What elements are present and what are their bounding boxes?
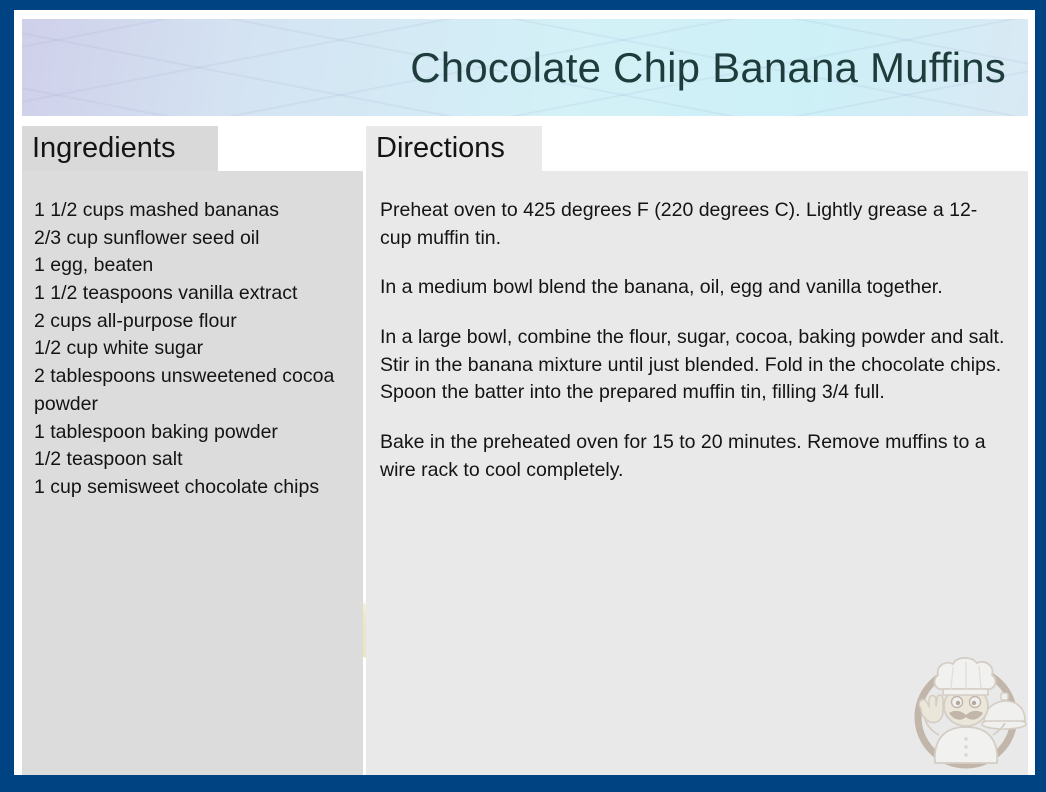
directions-heading: Directions bbox=[366, 126, 542, 171]
list-item: 2/3 cup sunflower seed oil bbox=[34, 225, 349, 253]
title-banner: Chocolate Chip Banana Muffins bbox=[22, 19, 1028, 116]
list-item: Preheat oven to 425 degrees F (220 degre… bbox=[380, 197, 1008, 252]
list-item: 1/2 cup white sugar bbox=[34, 335, 349, 363]
ingredients-section: Ingredients 1 1/2 cups mashed bananas 2/… bbox=[22, 126, 363, 775]
ingredients-heading: Ingredients bbox=[22, 126, 218, 171]
list-item: In a medium bowl blend the banana, oil, … bbox=[380, 274, 1008, 302]
page-title: Chocolate Chip Banana Muffins bbox=[410, 44, 1006, 92]
ingredients-list: 1 1/2 cups mashed bananas 2/3 cup sunflo… bbox=[34, 197, 349, 502]
list-item: 2 cups all-purpose flour bbox=[34, 308, 349, 336]
list-item: 1 1/2 teaspoons vanilla extract bbox=[34, 280, 349, 308]
directions-list: Preheat oven to 425 degrees F (220 degre… bbox=[380, 197, 1008, 485]
slide-page: Chocolate Chip Banana Muffins bbox=[14, 10, 1035, 775]
list-item: 1 tablespoon baking powder bbox=[34, 419, 349, 447]
list-item: 1/2 teaspoon salt bbox=[34, 446, 349, 474]
list-item: Bake in the preheated oven for 15 to 20 … bbox=[380, 429, 1008, 484]
slide-border: Chocolate Chip Banana Muffins bbox=[0, 0, 1046, 792]
list-item: 1 cup semisweet chocolate chips bbox=[34, 474, 349, 502]
list-item: In a large bowl, combine the flour, suga… bbox=[380, 324, 1008, 407]
ingredients-body: 1 1/2 cups mashed bananas 2/3 cup sunflo… bbox=[22, 171, 363, 775]
list-item: 1 egg, beaten bbox=[34, 252, 349, 280]
list-item: 2 tablespoons unsweetened cocoa powder bbox=[34, 363, 349, 418]
directions-body: Preheat oven to 425 degrees F (220 degre… bbox=[366, 171, 1028, 775]
directions-section: Directions Preheat oven to 425 degrees F… bbox=[366, 126, 1028, 775]
list-item: 1 1/2 cups mashed bananas bbox=[34, 197, 349, 225]
